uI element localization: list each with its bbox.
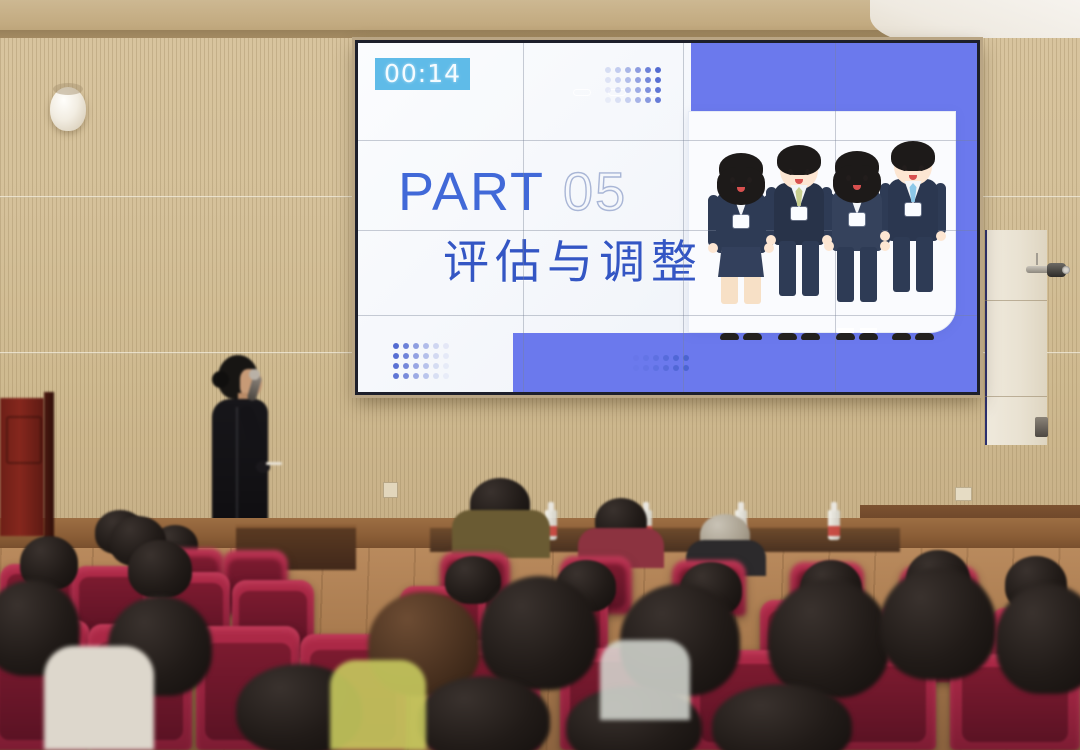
figure-woman-third <box>826 155 888 335</box>
part-number: 05 <box>563 165 627 219</box>
part-label: PART <box>398 165 545 219</box>
dot-grid-top-right <box>605 67 661 103</box>
dot-grid-bottom-middle <box>633 355 689 371</box>
side-panel-seam-2 <box>985 396 1047 397</box>
card-line-1 <box>573 89 591 96</box>
water-bottle-4 <box>828 502 840 540</box>
audience-head-front-4 <box>480 576 598 690</box>
door-frame <box>44 392 54 542</box>
pointer-icon <box>266 462 282 465</box>
audience-coat-front-3 <box>600 640 690 720</box>
wall-socket-icon <box>1035 417 1048 437</box>
video-wall[interactable]: 00:14 PART 05 评估与调整 <box>355 40 980 395</box>
audience-head-front-7 <box>880 568 996 680</box>
auditorium-scene: 00:14 PART 05 评估与调整 <box>0 0 1080 750</box>
figure-man-right <box>882 145 944 335</box>
wall-plate-right <box>955 487 972 501</box>
audience-head-mid-3 <box>128 540 192 598</box>
wall-plate-left <box>383 482 398 498</box>
side-panel-seam-1 <box>985 300 1047 301</box>
figure-woman-left <box>710 157 772 335</box>
audience-coat-front-1 <box>44 646 154 750</box>
security-camera-icon <box>1026 262 1066 281</box>
wall-light-icon <box>50 87 86 131</box>
audience-torso-far-1 <box>452 510 550 558</box>
slide-timer: 00:14 <box>375 58 470 90</box>
dot-grid-bottom-left <box>393 343 449 379</box>
presentation-slide: 00:14 PART 05 评估与调整 <box>358 43 977 392</box>
audience-head-front-6 <box>768 580 890 698</box>
four-business-people-illustration <box>710 143 938 335</box>
part-heading: PART 05 <box>398 165 627 219</box>
slide-title-cn: 评估与调整 <box>443 239 703 285</box>
side-door[interactable] <box>0 398 44 536</box>
figure-man-second <box>768 149 830 335</box>
video-wall-screen: 00:14 PART 05 评估与调整 <box>358 43 977 392</box>
audience-coat-front-2 <box>330 660 426 750</box>
